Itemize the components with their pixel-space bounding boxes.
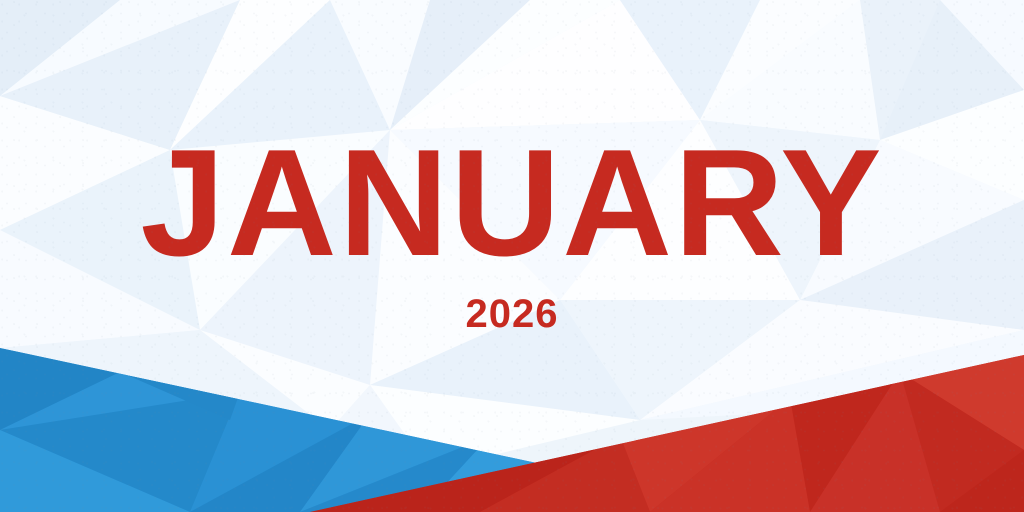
bottom-color-wedges xyxy=(0,0,1024,512)
calendar-title-slide: JANUARY 2026 xyxy=(0,0,1024,512)
